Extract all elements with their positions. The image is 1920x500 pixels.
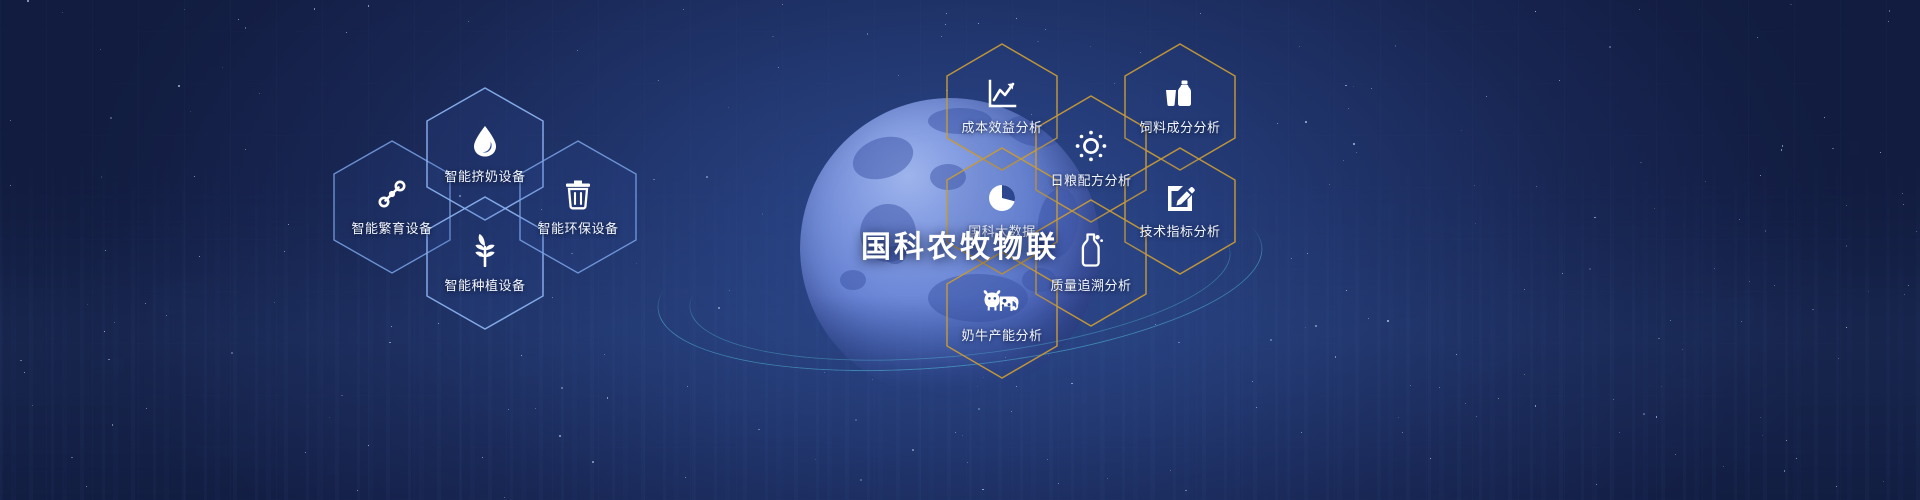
hex-label-ration-formula: 日粮配方分析 — [1050, 175, 1131, 188]
bottle-cup-icon — [1163, 79, 1197, 113]
trash-bin-icon — [563, 178, 593, 214]
hex-label-quality-trace: 质量追溯分析 — [1050, 280, 1131, 293]
hex-label-breeding: 智能繁育设备 — [351, 223, 432, 236]
page-title: 国科农牧物联 — [640, 222, 1280, 266]
edit-pencil-icon — [1165, 183, 1195, 217]
line-chart-icon — [987, 79, 1017, 113]
hex-label-cost-benefit: 成本效益分析 — [961, 122, 1042, 135]
water-drop-icon — [470, 124, 500, 162]
node-network-icon — [376, 178, 408, 214]
hex-tile-environment[interactable]: 智能环保设备 — [519, 140, 637, 274]
hero-banner: 国科农牧物联 智能繁育设备 — [0, 0, 1920, 500]
sun-icon — [1075, 130, 1107, 166]
hex-label-feed-composition: 饲料成分分析 — [1139, 122, 1220, 135]
hex-label-milking: 智能挤奶设备 — [444, 171, 525, 184]
hex-label-cow-capacity: 奶牛产能分析 — [961, 330, 1042, 343]
hex-label-planting: 智能种植设备 — [444, 280, 525, 293]
hex-tile-cow-capacity[interactable]: 奶牛产能分析 — [946, 251, 1058, 379]
cow-icon — [982, 287, 1022, 321]
pie-chart-icon — [987, 183, 1017, 217]
hex-label-environment: 智能环保设备 — [537, 223, 618, 236]
plant-leaf-icon — [469, 233, 501, 271]
